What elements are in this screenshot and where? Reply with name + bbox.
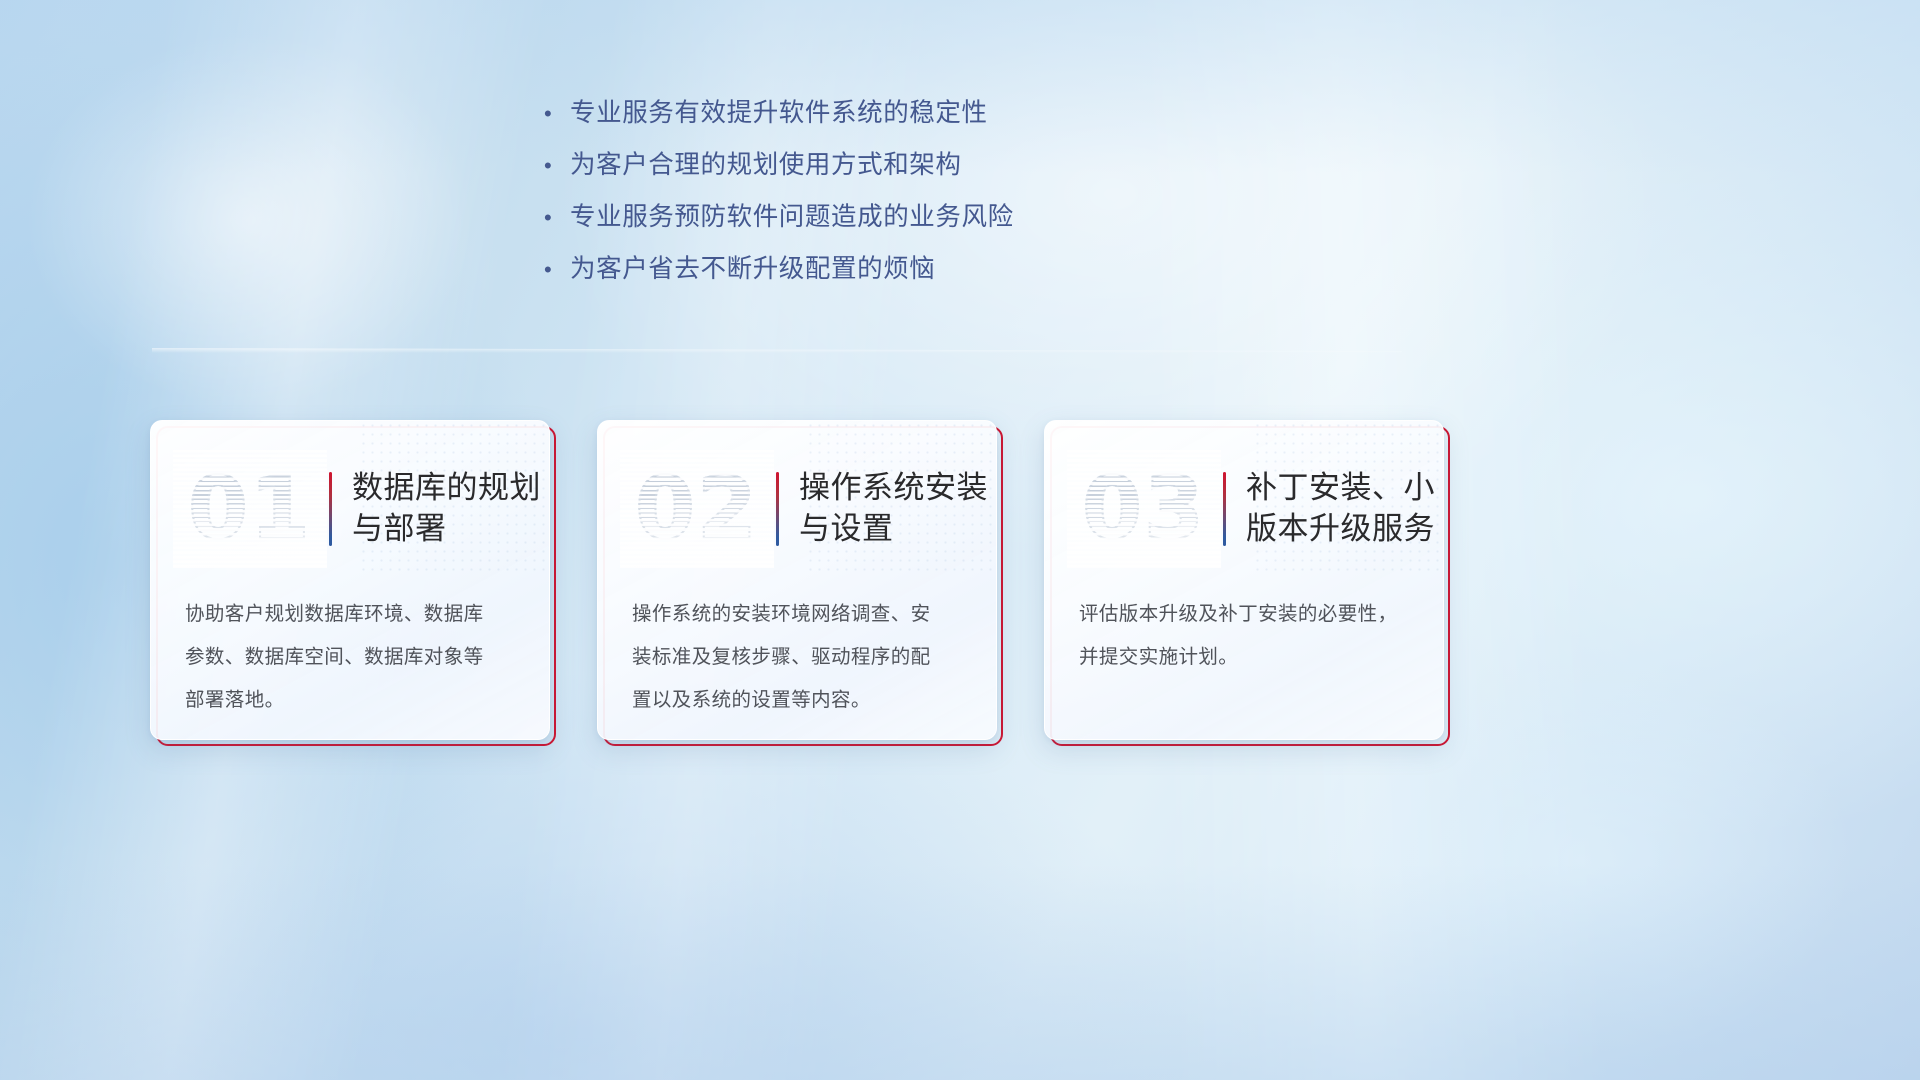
card-header: 02 操作系统安装 与设置: [598, 439, 996, 579]
card-surface: 03 补丁安装、小 版本升级服务 评估版本升级及补丁安装的必要性， 并提交实施计…: [1044, 420, 1444, 740]
bullet-dot-icon: •: [536, 259, 570, 281]
bullet-dot-icon: •: [536, 103, 570, 125]
card-title: 数据库的规划 与部署: [352, 468, 541, 550]
bullet-dot-icon: •: [536, 155, 570, 177]
service-card-03[interactable]: 03 补丁安装、小 版本升级服务 评估版本升级及补丁安装的必要性， 并提交实施计…: [1044, 420, 1444, 740]
card-number-text: 02: [635, 459, 759, 559]
card-surface: 01 数据库的规划 与部署 协助客户规划数据库环境、数据库 参数、数据库空间、数…: [150, 420, 550, 740]
card-divider-rule: [776, 472, 779, 546]
benefits-bullet-list: • 专业服务有效提升软件系统的稳定性 • 为客户合理的规划使用方式和架构 • 专…: [536, 92, 1176, 300]
bullet-text: 为客户合理的规划使用方式和架构: [570, 144, 962, 181]
card-description: 评估版本升级及补丁安装的必要性， 并提交实施计划。: [1079, 593, 1413, 679]
card-number-watermark: 01: [173, 450, 327, 568]
bullet-text: 专业服务预防软件问题造成的业务风险: [570, 196, 1014, 233]
card-header: 03 补丁安装、小 版本升级服务: [1045, 439, 1443, 579]
card-number-watermark: 02: [620, 450, 774, 568]
service-card-01[interactable]: 01 数据库的规划 与部署 协助客户规划数据库环境、数据库 参数、数据库空间、数…: [150, 420, 550, 740]
divider-sheen: [152, 348, 1402, 357]
bullet-text: 为客户省去不断升级配置的烦恼: [570, 248, 935, 285]
card-divider-rule: [329, 472, 332, 546]
bullet-text: 专业服务有效提升软件系统的稳定性: [570, 92, 988, 129]
card-number-watermark: 03: [1067, 450, 1221, 568]
bullet-dot-icon: •: [536, 207, 570, 229]
list-item: • 专业服务预防软件问题造成的业务风险: [536, 196, 1176, 248]
card-title: 操作系统安装 与设置: [799, 468, 988, 550]
section-divider: [152, 344, 1402, 362]
card-header: 01 数据库的规划 与部署: [151, 439, 549, 579]
card-number-text: 03: [1082, 459, 1206, 559]
card-number-text: 01: [188, 459, 312, 559]
list-item: • 为客户省去不断升级配置的烦恼: [536, 248, 1176, 300]
card-description: 操作系统的安装环境网络调查、安 装标准及复核步骤、驱动程序的配 置以及系统的设置…: [632, 593, 966, 722]
card-description: 协助客户规划数据库环境、数据库 参数、数据库空间、数据库对象等 部署落地。: [185, 593, 519, 722]
card-divider-rule: [1223, 472, 1226, 546]
card-surface: 02 操作系统安装 与设置 操作系统的安装环境网络调查、安 装标准及复核步骤、驱…: [597, 420, 997, 740]
service-card-02[interactable]: 02 操作系统安装 与设置 操作系统的安装环境网络调查、安 装标准及复核步骤、驱…: [597, 420, 997, 740]
list-item: • 专业服务有效提升软件系统的稳定性: [536, 92, 1176, 144]
service-cards: 01 数据库的规划 与部署 协助客户规划数据库环境、数据库 参数、数据库空间、数…: [150, 420, 1444, 740]
list-item: • 为客户合理的规划使用方式和架构: [536, 144, 1176, 196]
card-title: 补丁安装、小 版本升级服务: [1246, 468, 1435, 550]
